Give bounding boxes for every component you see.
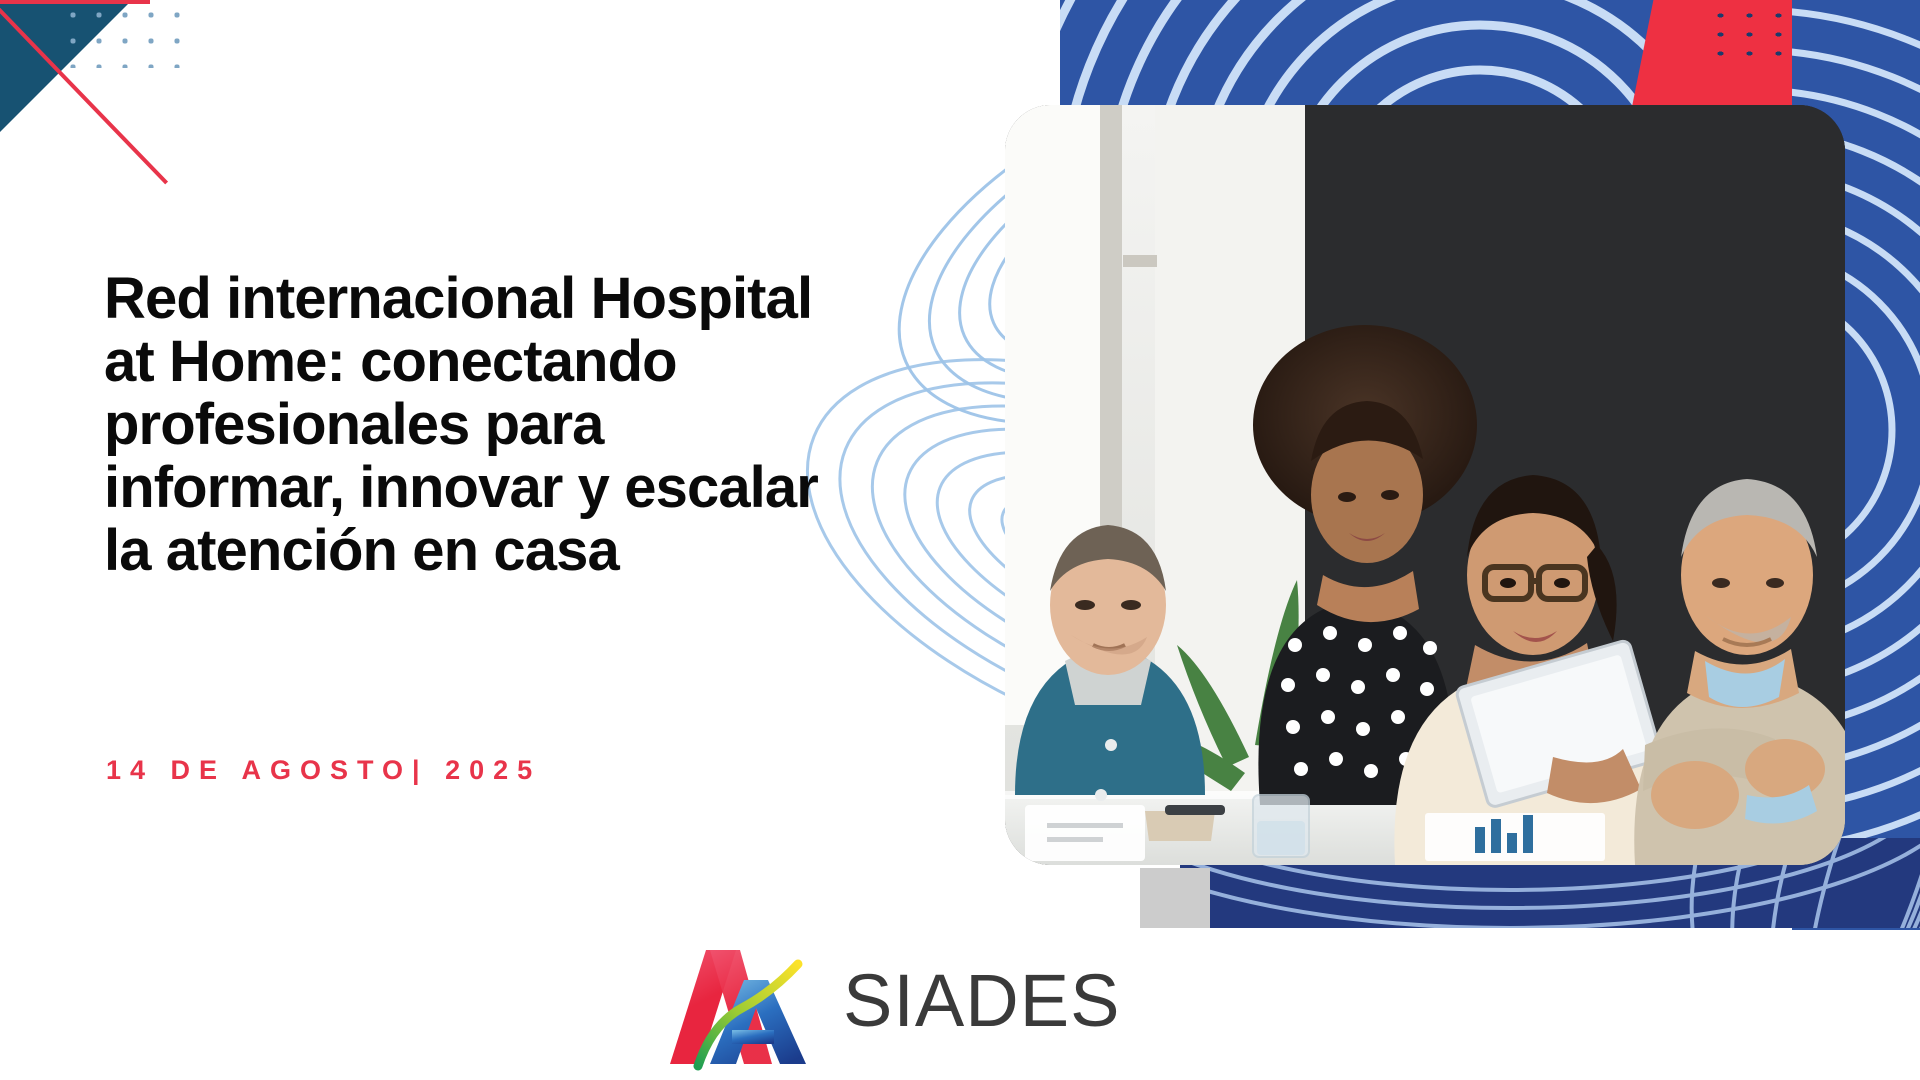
gray-patch-decoration: [1140, 868, 1210, 928]
hero-photo: [1005, 105, 1845, 865]
blue-dot-grid: [58, 0, 198, 68]
event-date: 14 DE AGOSTO| 2025: [106, 755, 541, 786]
red-top-edge-line: [0, 0, 150, 4]
asiades-a-monogram: [640, 938, 850, 1078]
poster-canvas: Red internacional Hospital at Home: cone…: [0, 0, 1920, 1080]
page-title: Red internacional Hospital at Home: cone…: [104, 268, 824, 583]
asiades-wordmark: SIADES: [843, 958, 1120, 1043]
asiades-logo: SIADES: [640, 930, 1280, 1070]
